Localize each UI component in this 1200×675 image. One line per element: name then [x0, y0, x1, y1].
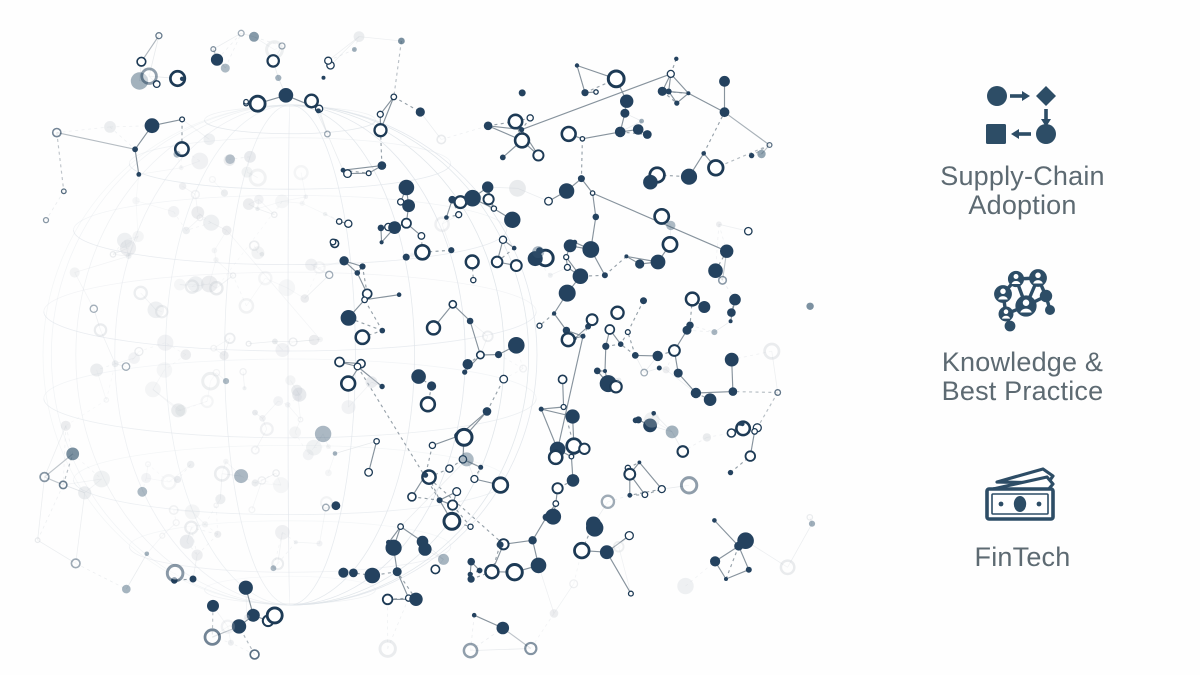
- feature-label-knowledge: Knowledge & Best Practice: [942, 348, 1104, 406]
- supply-chain-flow-icon: [968, 78, 1078, 152]
- feature-label-fintech: FinTech: [975, 543, 1071, 572]
- people-network-icon: [968, 264, 1078, 338]
- feature-fintech[interactable]: FinTech: [873, 459, 1173, 572]
- infographic-stage: Supply-Chain Adoption: [0, 0, 1200, 675]
- feature-list: Supply-Chain Adoption: [845, 0, 1200, 675]
- feature-knowledge[interactable]: Knowledge & Best Practice: [873, 264, 1173, 406]
- network-graphic: [0, 0, 840, 675]
- feature-supply-chain[interactable]: Supply-Chain Adoption: [873, 78, 1173, 220]
- globe-wireframe: [43, 105, 537, 605]
- feature-label-supply-chain: Supply-Chain Adoption: [940, 162, 1105, 220]
- network-svg: [0, 0, 840, 675]
- banknotes-icon: [968, 459, 1078, 533]
